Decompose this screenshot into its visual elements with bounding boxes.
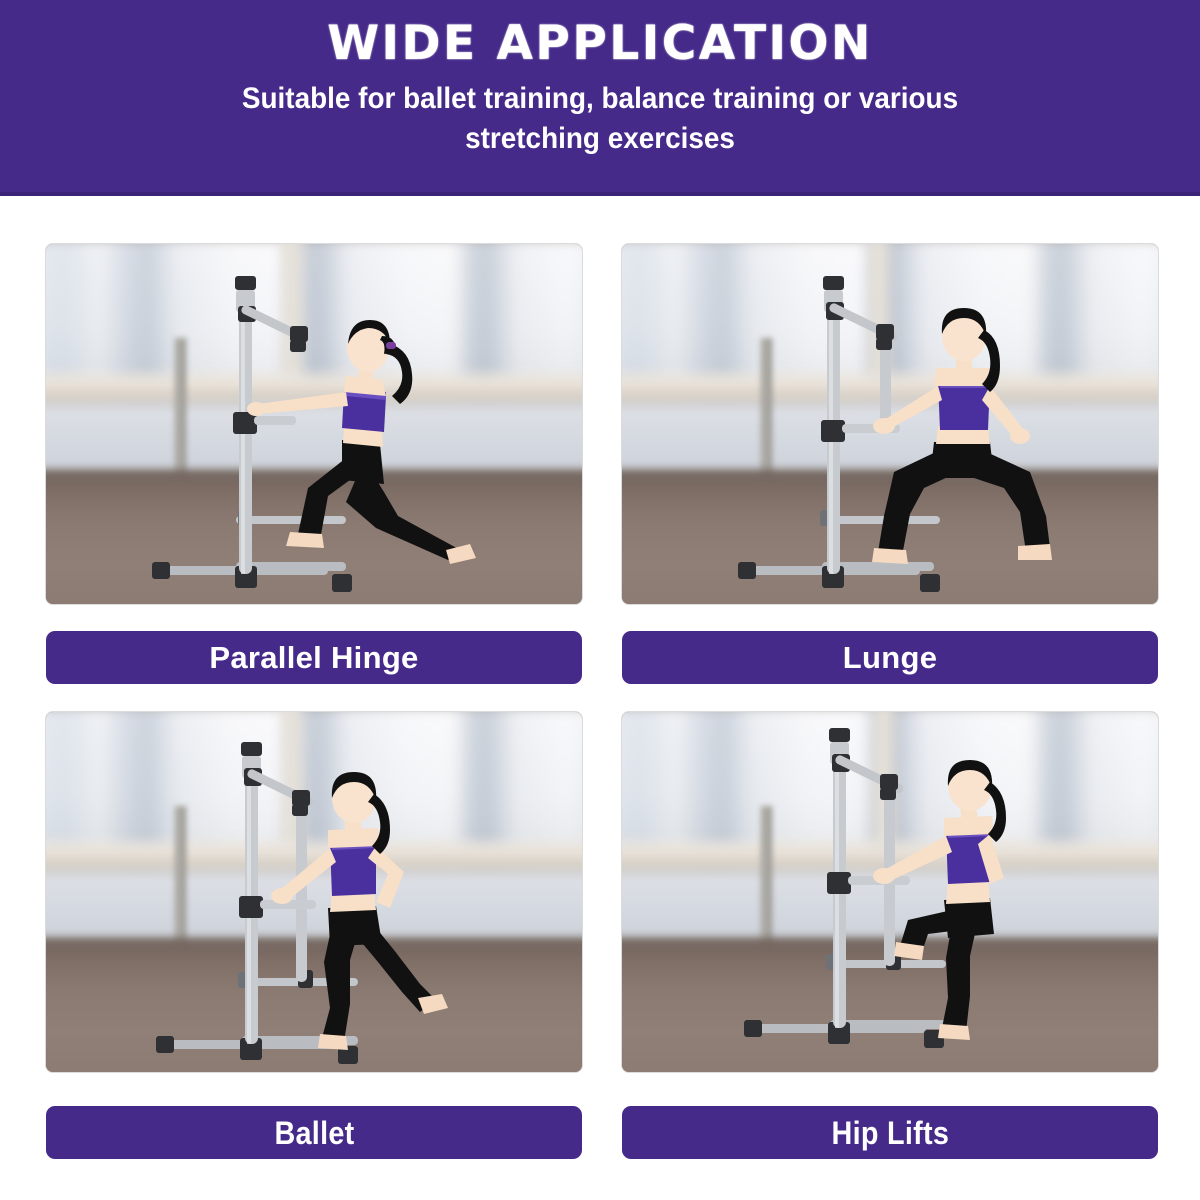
page-title: WIDE APPLICATION [0, 0, 1200, 71]
exercise-figure-ballet [46, 712, 582, 1072]
panel-label-text: Lunge [843, 642, 938, 673]
exercise-figure-parallel-hinge [46, 244, 582, 604]
panel-parallel-hinge[interactable]: Parallel Hinge [46, 244, 582, 684]
panel-hip-lifts[interactable]: Hip Lifts [622, 712, 1158, 1159]
panel-label-hip-lifts[interactable]: Hip Lifts [622, 1106, 1158, 1159]
panel-label-text: Hip Lifts [831, 1117, 949, 1149]
exercise-figure-lunge [622, 244, 1158, 604]
panel-label-text: Parallel Hinge [209, 642, 418, 673]
exercise-figure-hip-lifts [622, 712, 1158, 1072]
panel-ballet[interactable]: Ballet [46, 712, 582, 1159]
panel-lunge[interactable]: Lunge [622, 244, 1158, 684]
panel-photo-lunge [622, 244, 1158, 604]
header-banner: WIDE APPLICATION Suitable for ballet tra… [0, 0, 1200, 196]
infographic-page: WIDE APPLICATION Suitable for ballet tra… [0, 0, 1200, 1200]
page-subtitle-line2: stretching exercises [465, 122, 735, 155]
page-subtitle-line1: Suitable for ballet training, balance tr… [242, 82, 958, 115]
panel-photo-parallel-hinge [46, 244, 582, 604]
panel-label-text: Ballet [274, 1117, 354, 1149]
panel-label-parallel-hinge[interactable]: Parallel Hinge [46, 631, 582, 684]
panel-photo-ballet [46, 712, 582, 1072]
page-subtitle: Suitable for ballet training, balance tr… [42, 71, 1158, 159]
panel-label-lunge[interactable]: Lunge [622, 631, 1158, 684]
panel-photo-hip-lifts [622, 712, 1158, 1072]
panel-grid: Parallel Hinge [0, 196, 1200, 1200]
panel-label-ballet[interactable]: Ballet [46, 1106, 582, 1159]
